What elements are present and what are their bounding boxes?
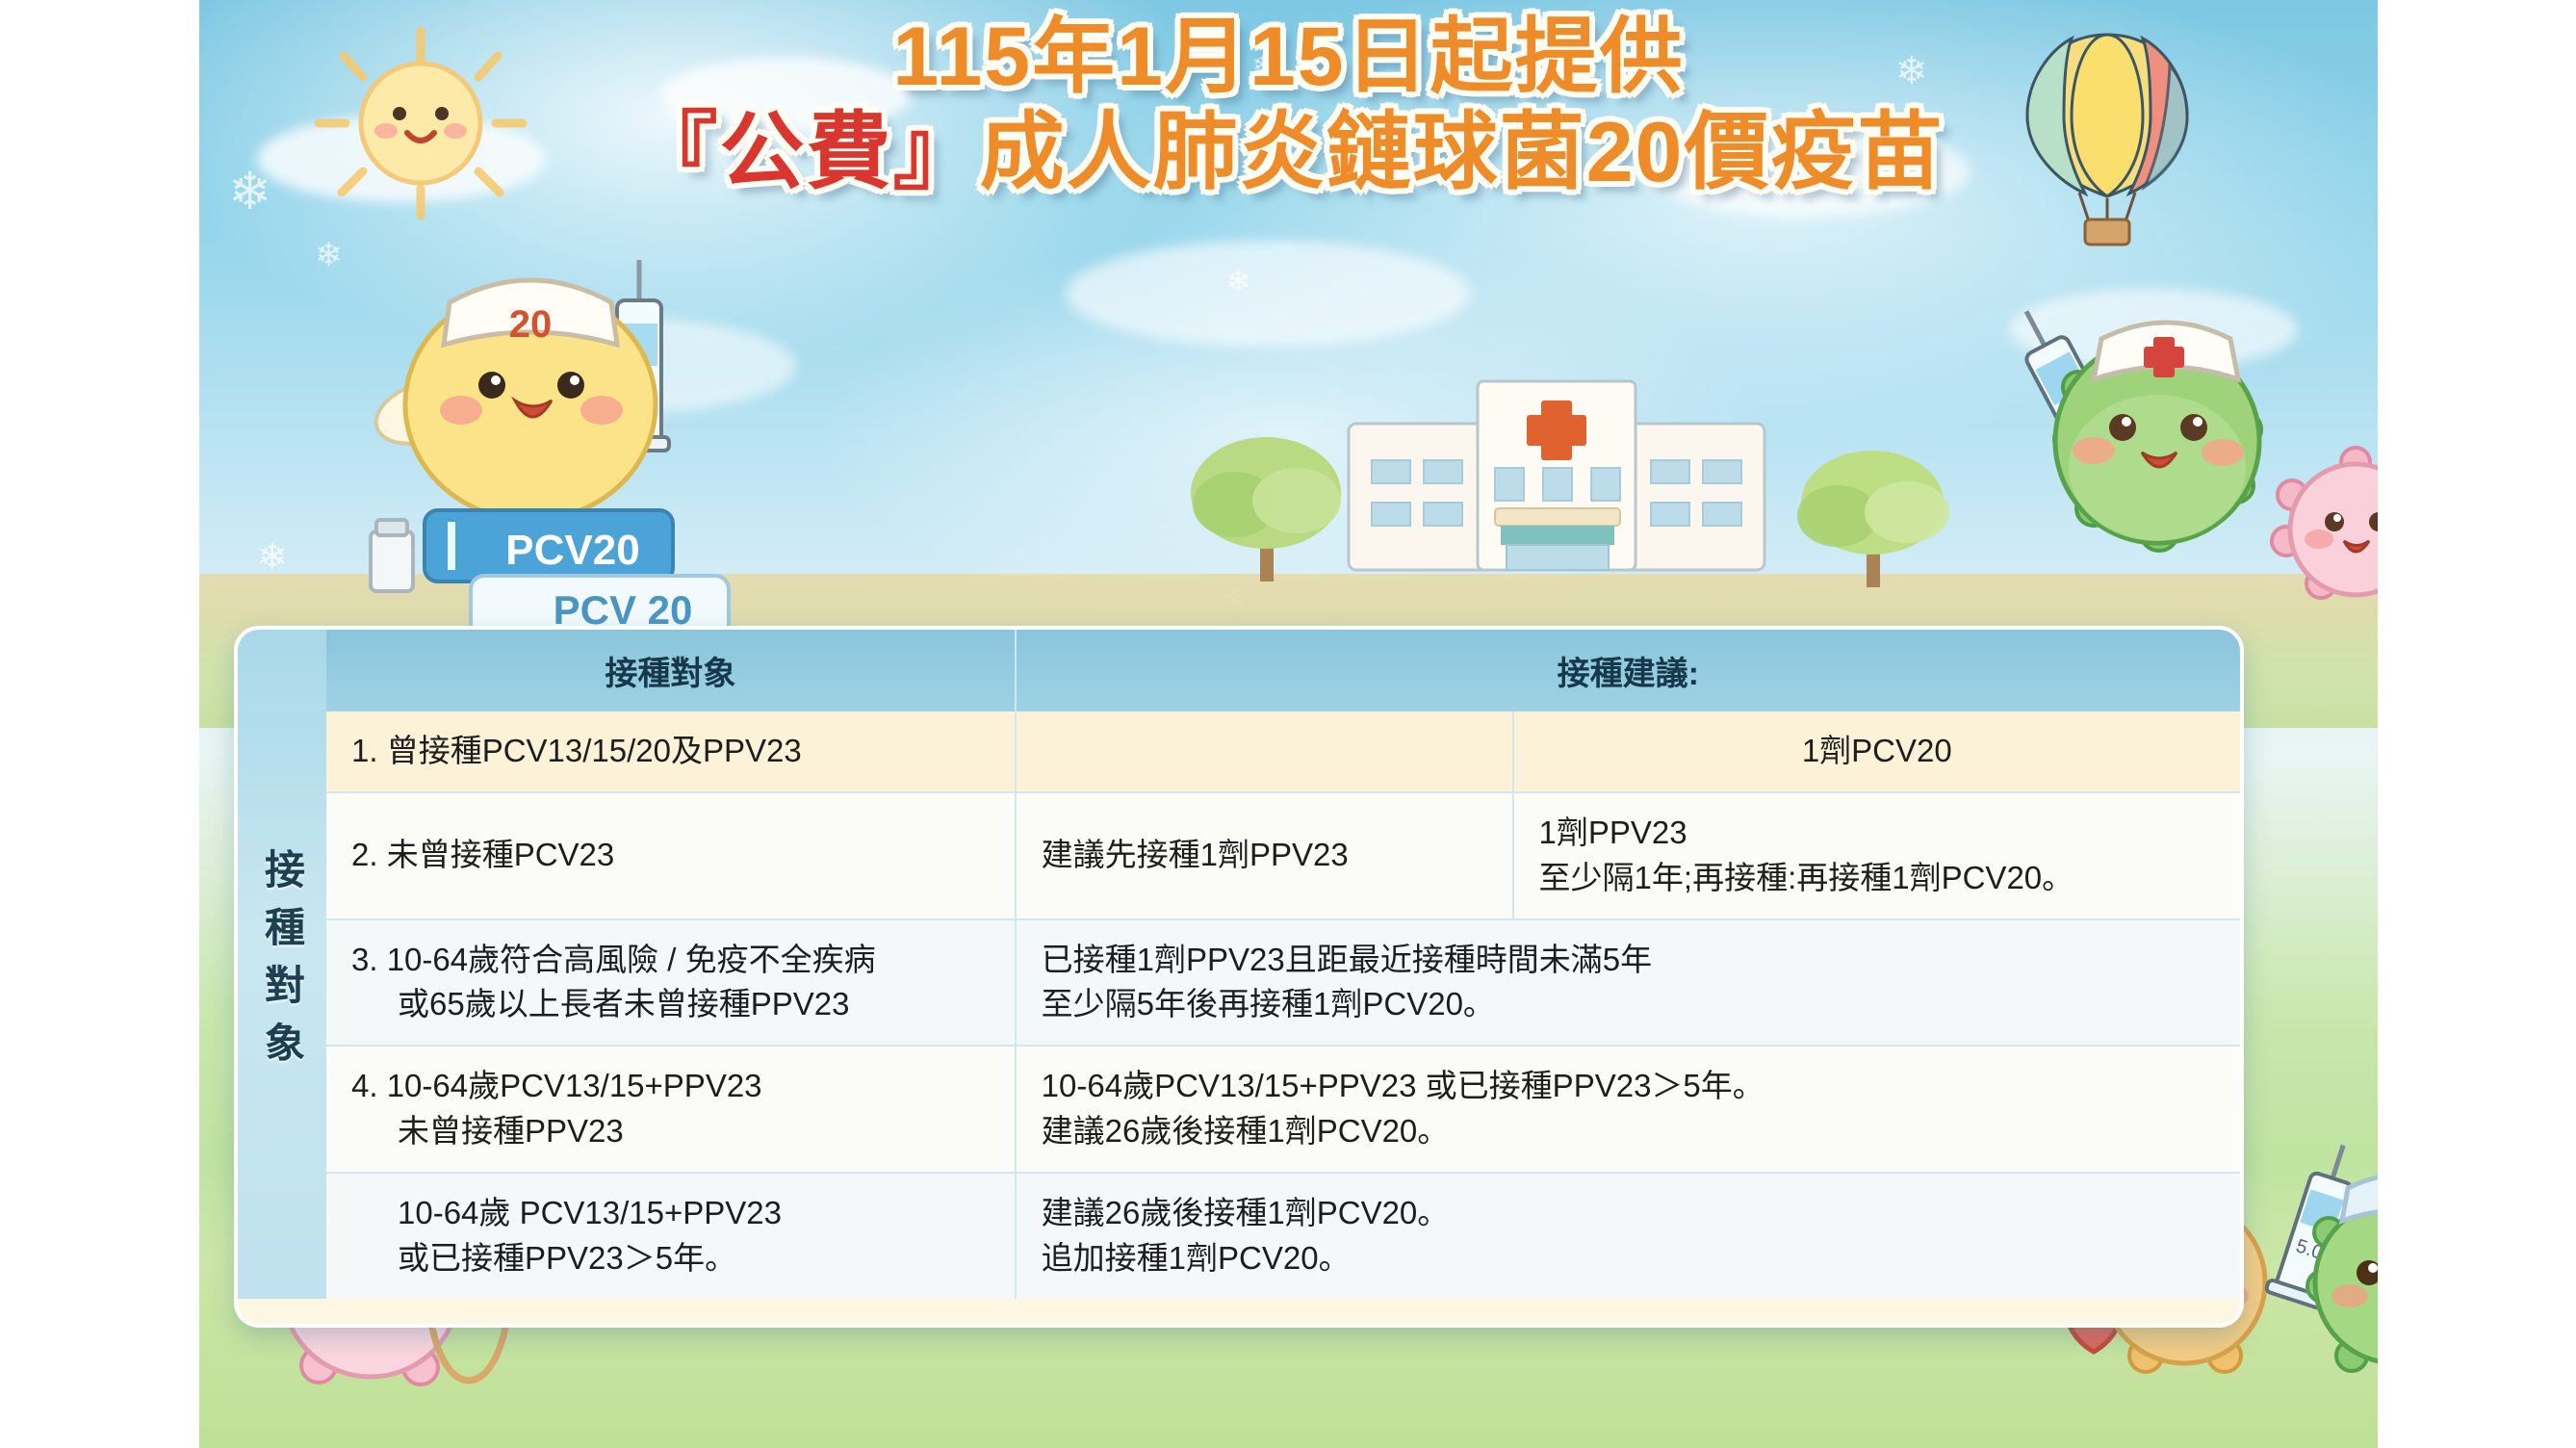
table-row: 10-64歲 PCV13/15+PPV23 或已接種PPV23＞5年。 建議26…	[326, 1173, 2240, 1299]
row2-middle: 建議先接種1劑PPV23	[1016, 792, 1513, 919]
row2-rec-line2: 至少隔1年;再接種:再接種1劑PCV20。	[1539, 856, 2215, 901]
row2-recommendation: 1劑PPV23 至少隔1年;再接種:再接種1劑PCV20。	[1513, 792, 2240, 919]
poster-headline: 115年1月15日起提供 『公費』成人肺炎鏈球菌20價疫苗	[199, 13, 2378, 197]
row4-target-line1: 4. 10-64歲PCV13/15+PPV23	[351, 1064, 990, 1109]
headline-quote-close: 』	[893, 104, 980, 199]
row5-recommendation: 建議26歲後接種1劑PCV20。 追加接種1劑PCV20。	[1016, 1173, 2240, 1299]
table-row: 2. 未曾接種PCV23 建議先接種1劑PPV23 1劑PPV23 至少隔1年;…	[326, 792, 2240, 919]
header-target: 接種對象	[326, 630, 1016, 711]
vaccination-table: 接種對象 接種建議: 1. 曾接種PCV13/15/20及PPV23 1劑PCV…	[326, 630, 2240, 1299]
pink-germ-mascot	[2259, 439, 2378, 612]
row4-rec-line1: 10-64歲PCV13/15+PPV23 或已接種PPV23＞5年。	[1042, 1064, 2215, 1109]
side-label-text: 接種對象	[253, 848, 312, 1079]
headline-highlight: 公費	[720, 104, 893, 199]
green-germ-shield-mascot: 5.0	[2259, 1125, 2378, 1413]
headline-rest: 成人肺炎鏈球菌20價疫苗	[980, 104, 1945, 199]
table-row: 3. 10-64歲符合高風險 / 免疫不全疾病 或65歲以上長者未曾接種PPV2…	[326, 919, 2240, 1047]
headline-quote-open: 『	[633, 104, 720, 199]
vaccination-table-wrapper: 接種對象 接種建議: 1. 曾接種PCV13/15/20及PPV23 1劑PCV…	[326, 630, 2240, 1299]
table-row: 4. 10-64歲PCV13/15+PPV23 未曾接種PPV23 10-64歲…	[326, 1046, 2240, 1173]
row5-rec-line2: 追加接種1劑PCV20。	[1042, 1236, 2215, 1281]
row2-target: 2. 未曾接種PCV23	[326, 792, 1016, 919]
vaccination-table-card: 接種對象 接種對象 接種建議: 1. 曾接種PCV13/15/20及PPV23	[234, 626, 2244, 1328]
headline-line-2: 『公費』成人肺炎鏈球菌20價疫苗	[199, 108, 2378, 196]
row4-recommendation: 10-64歲PCV13/15+PPV23 或已接種PPV23＞5年。 建議26歲…	[1016, 1046, 2240, 1173]
row5-target-line1: 10-64歲 PCV13/15+PPV23	[351, 1191, 990, 1236]
row3-target-line2: 或65歲以上長者未曾接種PPV23	[351, 982, 990, 1027]
header-recommendation: 接種建議:	[1016, 630, 2240, 711]
cloud-decoration	[1066, 241, 1470, 347]
vaccine-box-top-label: PCV20	[505, 527, 639, 574]
table-header-row: 接種對象 接種建議:	[326, 630, 2240, 711]
row5-target: 10-64歲 PCV13/15+PPV23 或已接種PPV23＞5年。	[326, 1173, 1016, 1299]
tree-icon	[1778, 414, 1971, 607]
snowflake-icon: ❄	[257, 539, 288, 576]
row1-target: 1. 曾接種PCV13/15/20及PPV23	[326, 711, 1016, 792]
row1-middle	[1016, 711, 1513, 792]
row4-rec-line2: 建議26歲後接種1劑PCV20。	[1042, 1109, 2215, 1154]
hospital-building-icon	[1316, 368, 1797, 589]
row1-recommendation: 1劑PCV20	[1513, 711, 2240, 792]
chick-cap-number: 20	[509, 303, 553, 346]
row3-target-line1: 3. 10-64歲符合高風險 / 免疫不全疾病	[351, 938, 990, 983]
vaccine-vial-icon	[371, 520, 413, 591]
screenshot-stage: ❄ ❄ ❄ ❄ ❄ ❄ ❄ ❄ ❄ ❄ ❄	[0, 0, 2576, 1448]
card-footer-strip	[238, 1299, 2240, 1324]
side-label-vaccination-target: 接種對象	[238, 630, 326, 1299]
row5-target-line2: 或已接種PPV23＞5年。	[351, 1236, 990, 1281]
row3-rec-line2: 至少隔5年後再接種1劑PCV20。	[1042, 982, 2215, 1027]
row3-target: 3. 10-64歲符合高風險 / 免疫不全疾病 或65歲以上長者未曾接種PPV2…	[326, 919, 1016, 1047]
vaccine-poster: ❄ ❄ ❄ ❄ ❄ ❄ ❄ ❄ ❄ ❄ ❄	[199, 0, 2378, 1448]
headline-line-1: 115年1月15日起提供	[199, 13, 2378, 100]
vaccine-box-top: PCV20	[425, 510, 673, 582]
row5-rec-line1: 建議26歲後接種1劑PCV20。	[1042, 1191, 2215, 1236]
row4-target: 4. 10-64歲PCV13/15+PPV23 未曾接種PPV23	[326, 1046, 1016, 1173]
row3-recommendation: 已接種1劑PPV23且距最近接種時間未滿5年 至少隔5年後再接種1劑PCV20。	[1016, 919, 2240, 1047]
snowflake-icon: ❄	[1225, 266, 1251, 297]
row2-rec-line1: 1劑PPV23	[1539, 811, 2215, 856]
row3-rec-line1: 已接種1劑PPV23且距最近接種時間未滿5年	[1042, 938, 2215, 983]
chick-nurse-mascot: 20 PCV20 PCV 20	[365, 231, 769, 635]
table-row: 1. 曾接種PCV13/15/20及PPV23 1劑PCV20	[326, 711, 2240, 792]
snowflake-icon: ❄	[315, 239, 343, 271]
row4-target-line2: 未曾接種PPV23	[351, 1109, 990, 1154]
